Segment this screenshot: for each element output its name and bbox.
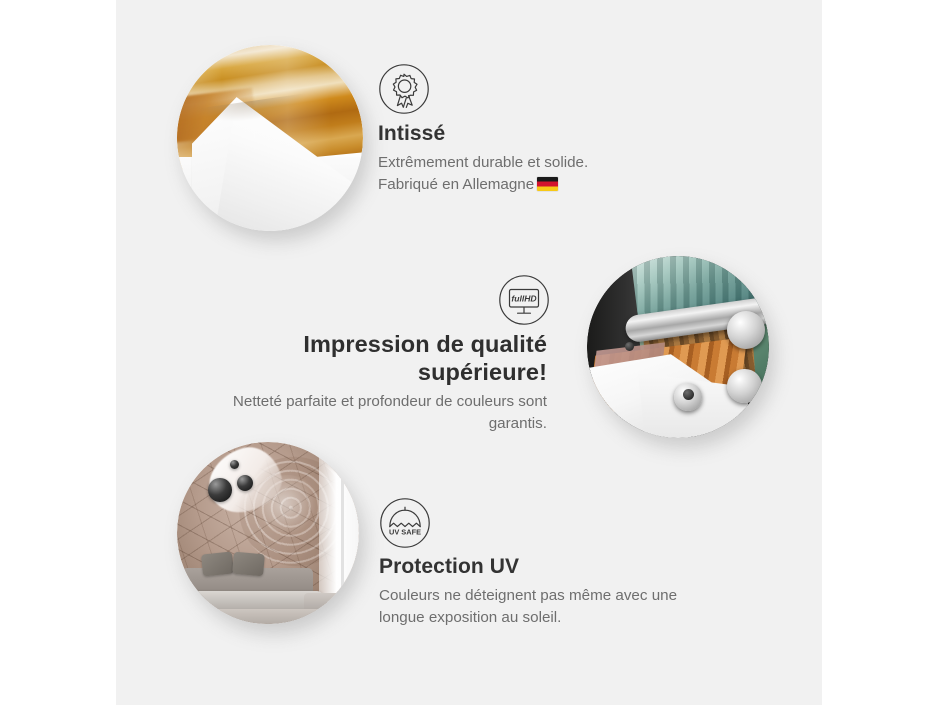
infographic-panel: Intissé Extrêmement durable et solide. F…	[116, 0, 822, 705]
living-room-mural-photo	[177, 442, 359, 624]
uv-heading: Protection UV	[379, 554, 779, 579]
uv-safe-icon-label: UV SAFE	[389, 527, 421, 536]
product-infographic: Intissé Extrêmement durable et solide. F…	[0, 0, 940, 705]
uv-text-block: Protection UV Couleurs ne déteignent pas…	[379, 554, 779, 628]
fullhd-icon-label: fullHD	[511, 294, 536, 304]
fullhd-monitor-icon: fullHD	[498, 274, 550, 326]
uv-body-line1: Couleurs ne déteignent pas même avec une	[379, 587, 677, 604]
intisse-body-line1: Extrêmement durable et solide.	[378, 154, 588, 171]
impression-body-line2: garantis.	[489, 415, 547, 432]
intisse-text-block: Intissé Extrêmement durable et solide. F…	[378, 121, 778, 195]
uv-safe-umbrella-icon: UV SAFE	[379, 497, 431, 549]
uv-body: Couleurs ne déteignent pas même avec une…	[379, 585, 779, 628]
printing-press-photo	[587, 256, 769, 438]
intisse-body: Extrêmement durable et solide. Fabriqué …	[378, 152, 778, 195]
impression-text-block: Impression de qualité supérieure! Nettet…	[176, 330, 547, 434]
intisse-body-line2: Fabriqué en Allemagne	[378, 176, 534, 193]
uv-body-line2: longue exposition au soleil.	[379, 609, 561, 626]
impression-body-line1: Netteté parfaite et profondeur de couleu…	[233, 393, 547, 410]
german-flag-icon	[537, 177, 558, 191]
impression-body: Netteté parfaite et profondeur de couleu…	[176, 391, 547, 434]
wallpaper-peeled-corner-photo	[177, 45, 363, 231]
impression-heading: Impression de qualité supérieure!	[176, 330, 547, 386]
intisse-heading: Intissé	[378, 121, 778, 146]
award-rosette-icon	[378, 63, 430, 115]
